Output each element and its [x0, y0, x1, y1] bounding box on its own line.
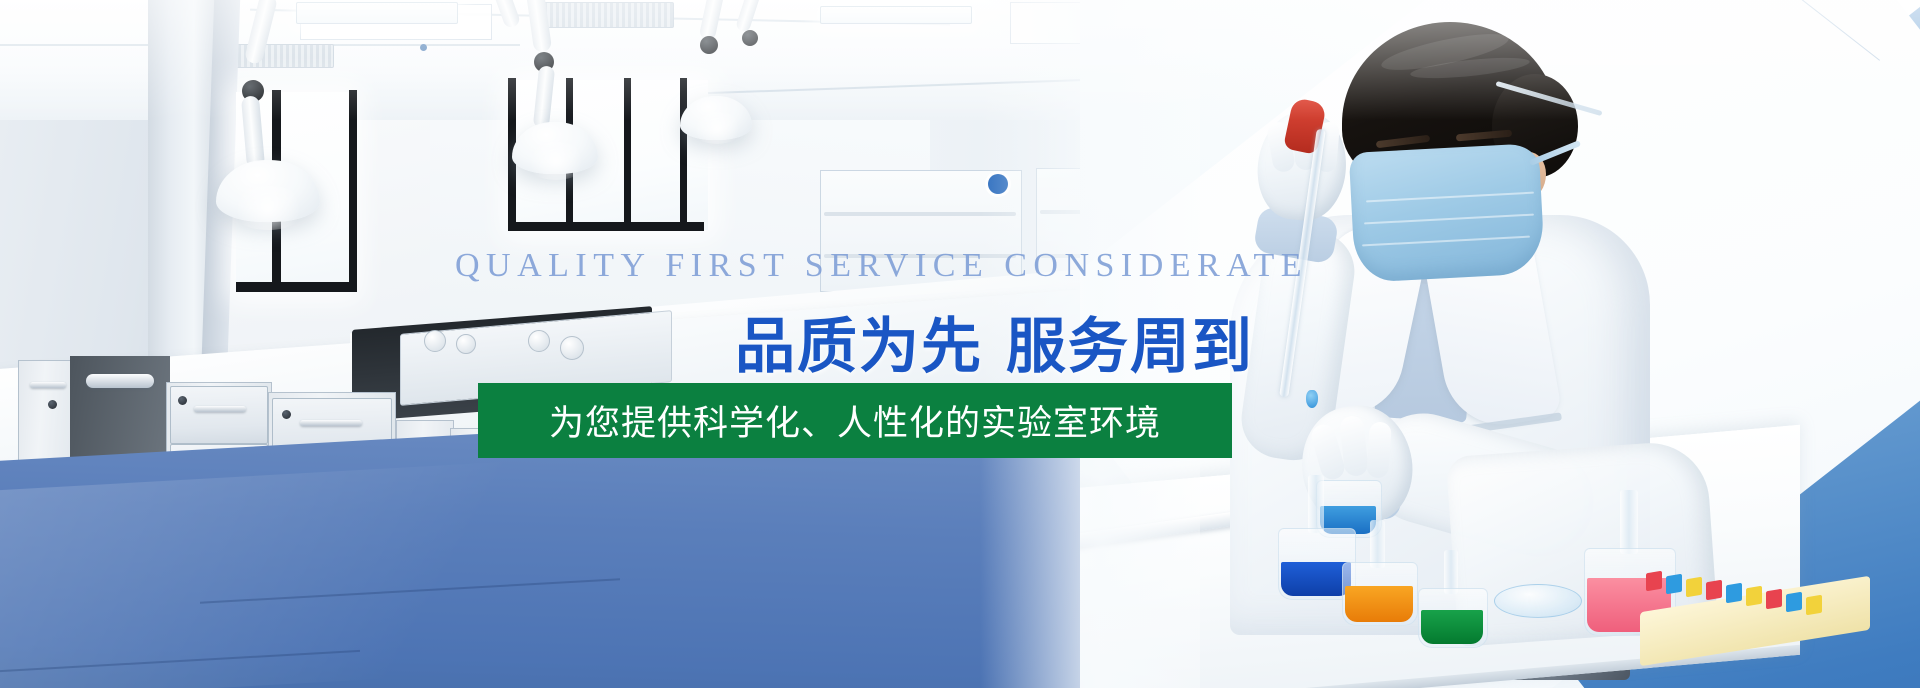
tube-cap	[1726, 583, 1742, 604]
banner-eyebrow-text: QUALITY FIRST SERVICE CONSIDERATE	[455, 247, 1308, 285]
ceiling-vent	[540, 2, 674, 28]
window-mullion	[680, 78, 687, 226]
petri-dish	[1494, 584, 1582, 618]
lamp-joint	[700, 36, 718, 54]
tube-cap	[1686, 577, 1702, 598]
drawer[interactable]	[170, 386, 268, 444]
window-mullion	[624, 78, 631, 228]
window-sill	[508, 222, 704, 231]
drawer-handle[interactable]	[194, 406, 246, 412]
surgical-mask	[1349, 143, 1546, 283]
drawer-lock-icon	[178, 396, 187, 405]
banner-headline: 品质为先 服务周到	[735, 298, 1254, 385]
cabinet-handle[interactable]	[30, 382, 66, 388]
cabinet-lock-icon	[48, 400, 57, 409]
window-mullion	[349, 90, 357, 292]
tube-cap	[1806, 595, 1822, 616]
tube-cap	[1786, 592, 1802, 613]
ceiling-vent	[222, 44, 334, 68]
shelf-bar	[824, 212, 1016, 216]
banner-ribbon-text: 为您提供科学化、人性化的实验室环境	[478, 383, 1232, 458]
tube-cap	[1766, 589, 1782, 610]
hero-banner: QUALITY FIRST SERVICE CONSIDERATE 品质为先 服…	[0, 0, 1920, 688]
drawer-lock-icon	[282, 410, 291, 419]
ceiling-light	[820, 6, 972, 24]
glove-finger	[1366, 421, 1392, 478]
shelf-logo-icon	[988, 174, 1008, 194]
bench-knob[interactable]	[528, 330, 550, 352]
tube-cap	[1706, 580, 1722, 601]
tube-cap	[1646, 571, 1662, 592]
tube-cap	[1746, 586, 1762, 607]
tube-cap	[1666, 574, 1682, 595]
ceiling-light	[296, 2, 458, 24]
floor-reflection	[0, 448, 760, 688]
bench-knob[interactable]	[424, 330, 446, 352]
lamp-glow	[524, 142, 588, 180]
lamp-joint	[742, 30, 758, 46]
bin-lid-handle[interactable]	[86, 374, 154, 388]
sprinkler-head	[420, 44, 427, 51]
pipette-droplet	[1306, 390, 1318, 408]
lamp-glow	[690, 112, 744, 144]
window-sill	[236, 282, 356, 292]
bench-knob[interactable]	[456, 334, 476, 354]
banner-ribbon: 为您提供科学化、人性化的实验室环境	[478, 383, 1232, 458]
bench-knob[interactable]	[560, 336, 584, 360]
lamp-glow	[228, 186, 308, 230]
drawer-handle[interactable]	[300, 420, 362, 426]
